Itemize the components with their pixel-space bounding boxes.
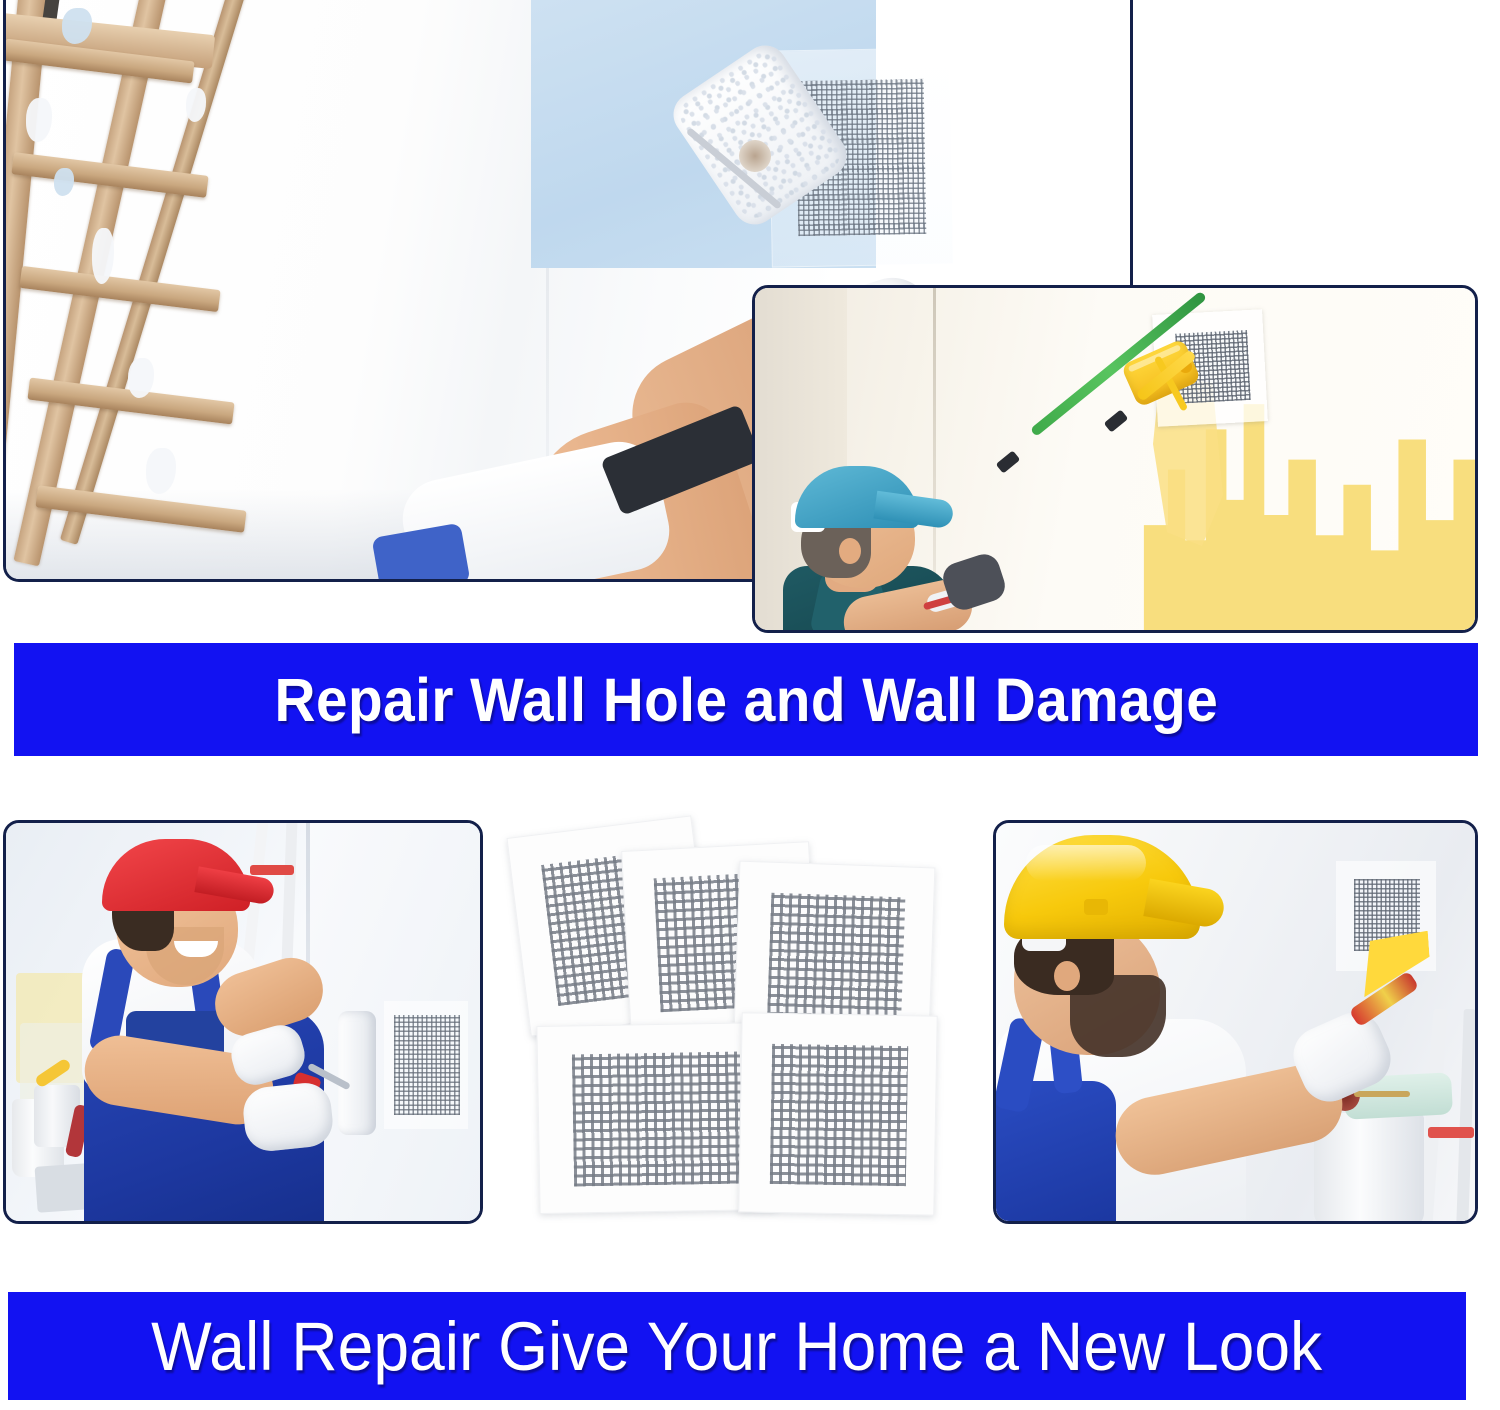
- paint-roller: [338, 1011, 376, 1135]
- white-glove: [241, 1081, 335, 1154]
- ladder-red-step: [250, 865, 294, 875]
- ladder-rail: [281, 823, 297, 967]
- paint-splatter: [146, 448, 176, 494]
- paint-splatter: [92, 228, 114, 284]
- wooden-stepladder: [6, 0, 426, 578]
- banner-bottom-text: Wall Repair Give Your Home a New Look: [151, 1307, 1322, 1386]
- product-patches-group: [500, 818, 990, 1228]
- ladder-red-step: [1428, 1127, 1474, 1138]
- patch-mesh: [394, 1015, 460, 1115]
- patch-mesh: [770, 1044, 908, 1186]
- ladder-step: [19, 266, 220, 312]
- banner-top-text: Repair Wall Hole and Wall Damage: [274, 665, 1218, 735]
- ear: [1054, 961, 1080, 991]
- ear: [839, 538, 861, 564]
- scene-hard-hat: [996, 823, 1475, 1221]
- drywall-repair-patch: [738, 1012, 937, 1215]
- hard-hat-clip: [1084, 899, 1108, 915]
- ladder-rail: [1456, 1009, 1475, 1221]
- photo-panel-hard-hat-worker: [993, 820, 1478, 1224]
- mesh-repair-patch: [384, 1001, 468, 1129]
- paint-splatter: [26, 98, 52, 142]
- scene-red-cap: [6, 823, 480, 1221]
- roller-rod: [1354, 1091, 1410, 1097]
- product-feature-image: Repair Wall Hole and Wall Damage: [0, 0, 1500, 1410]
- patch-mesh: [572, 1052, 742, 1187]
- banner-repair-wall-hole: Repair Wall Hole and Wall Damage: [14, 643, 1478, 756]
- photo-panel-red-cap-worker: [3, 820, 483, 1224]
- photo-panel-pole-roller: [752, 285, 1478, 633]
- paint-splatter: [54, 168, 74, 196]
- scene-pole-roller: [755, 288, 1475, 630]
- banner-new-look: Wall Repair Give Your Home a New Look: [8, 1292, 1466, 1400]
